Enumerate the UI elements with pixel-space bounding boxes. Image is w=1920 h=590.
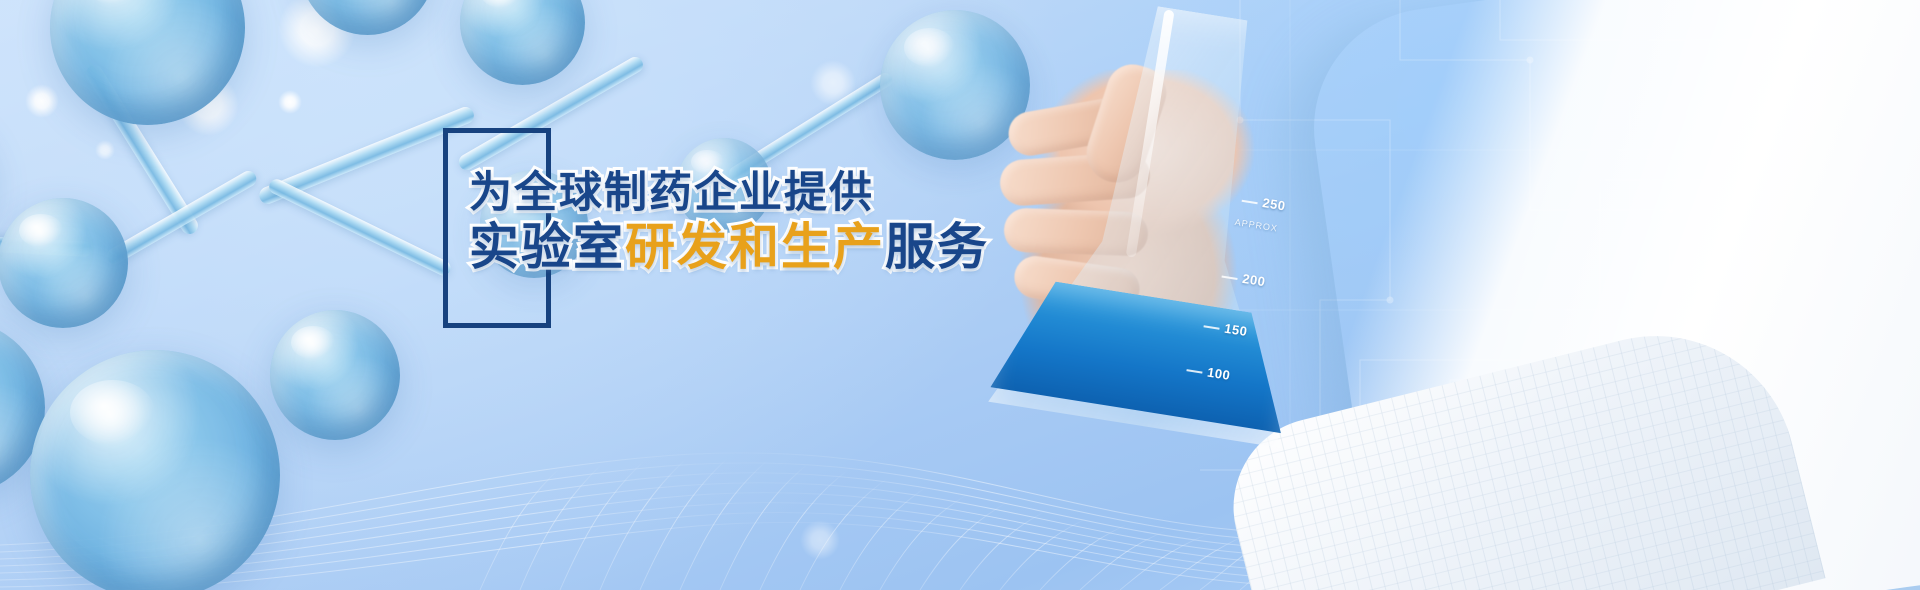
molecule-sphere	[460, 0, 585, 85]
molecule-bond	[83, 62, 201, 237]
flask-graduation-approx: APPROX	[1234, 217, 1279, 234]
graduation-tick	[1221, 275, 1237, 279]
molecule-bond	[267, 177, 453, 278]
erlenmeyer-flask: 250 APPROX 200 150 100	[983, 0, 1347, 461]
molecule-graphic	[0, 0, 700, 590]
graduation-tick	[1241, 199, 1257, 203]
molecule-sphere	[0, 198, 128, 328]
glow-blob	[800, 520, 840, 560]
glow-blob	[278, 0, 356, 68]
molecule-sphere	[270, 310, 400, 440]
headline-line-1-text: 为全球制药企业提供	[469, 168, 874, 218]
flask-graduation-200: 200	[1221, 268, 1267, 290]
flask-glass	[983, 0, 1349, 461]
molecule-sphere	[0, 320, 45, 495]
finger	[1003, 208, 1148, 257]
molecule-bond	[0, 236, 92, 257]
glow-blob	[177, 74, 239, 136]
headline-line-2-part-1: 实验室	[469, 218, 625, 276]
flask-liquid	[985, 274, 1302, 449]
scientist-photo: 250 APPROX 200 150 100	[980, 0, 1920, 590]
graduation-tick	[1203, 325, 1219, 329]
graduation-label: 150	[1223, 321, 1248, 339]
hero-banner: 250 APPROX 200 150 100 为全球制药企业提供 实验室研	[0, 0, 1920, 590]
molecule-sphere	[880, 10, 1030, 160]
thumb	[1079, 58, 1173, 191]
headline: 为全球制药企业提供 实验室研发和生产服务	[469, 170, 989, 274]
lab-coat-sleeve	[1214, 306, 1825, 590]
decorative-frame-bar	[443, 128, 448, 328]
hand	[1000, 70, 1320, 400]
glow-blob	[25, 84, 59, 118]
circuit-grid-decoration	[1200, 0, 1920, 590]
molecule-sphere	[300, 0, 435, 35]
graduation-label: 250	[1261, 195, 1286, 213]
headline-line-2-part-2: 研发和生产	[625, 218, 885, 276]
headline-line-2: 实验室研发和生产服务	[469, 220, 989, 274]
flask-graduation-150: 150	[1202, 317, 1248, 339]
headline-line-1: 为全球制药企业提供	[469, 170, 989, 216]
sleeve-texture	[1214, 306, 1825, 590]
molecule-bond	[104, 168, 259, 267]
flask-graduation-250: 250	[1241, 192, 1287, 214]
lab-coat	[1298, 0, 1920, 590]
molecule-sphere	[50, 0, 245, 125]
molecule-bond	[726, 70, 895, 183]
glow-blob	[810, 60, 856, 106]
glow-blob	[278, 90, 302, 114]
graduation-label: 200	[1241, 271, 1266, 289]
finger	[999, 151, 1152, 207]
finger	[1012, 253, 1143, 312]
glow-blob	[95, 140, 115, 160]
molecule-sphere	[30, 350, 280, 590]
flask-graduation-100: 100	[1185, 361, 1231, 383]
graduation-label: APPROX	[1234, 217, 1279, 234]
flask-neck-highlight	[1126, 9, 1175, 257]
wave-mesh-decoration	[0, 330, 1920, 590]
graduation-label: 100	[1206, 365, 1231, 383]
finger	[1005, 93, 1143, 159]
headline-line-2-part-3: 服务	[885, 218, 989, 276]
graduation-tick	[1186, 369, 1202, 373]
